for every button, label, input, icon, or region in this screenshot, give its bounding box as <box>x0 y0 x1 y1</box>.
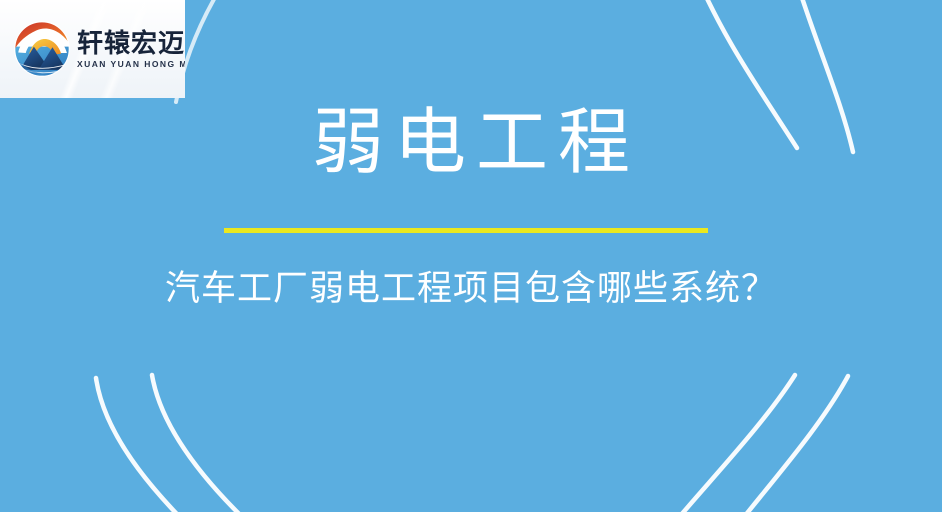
bottom-left-arc-2 <box>152 375 285 512</box>
logo-text-block: 轩辕宏迈 XUAN YUAN HONG MAI <box>77 30 185 69</box>
logo-company-name-en: XUAN YUAN HONG MAI <box>77 60 185 69</box>
logo-company-name-cn: 轩辕宏迈 <box>77 30 185 56</box>
bottom-right-arc-1 <box>655 375 795 512</box>
banner-root: 轩辕宏迈 XUAN YUAN HONG MAI 弱电工程 汽车工厂弱电工程项目包… <box>0 0 942 512</box>
bottom-right-arc-2 <box>718 376 848 512</box>
bottom-left-arc-1 <box>96 378 215 512</box>
banner-subtitle: 汽车工厂弱电工程项目包含哪些系统？ <box>0 268 942 312</box>
banner-headline: 弱电工程 <box>0 104 942 182</box>
xuanyuan-hongmai-logo-icon <box>13 20 71 78</box>
headline-divider <box>224 228 708 233</box>
logo-plate[interactable]: 轩辕宏迈 XUAN YUAN HONG MAI <box>0 0 185 98</box>
